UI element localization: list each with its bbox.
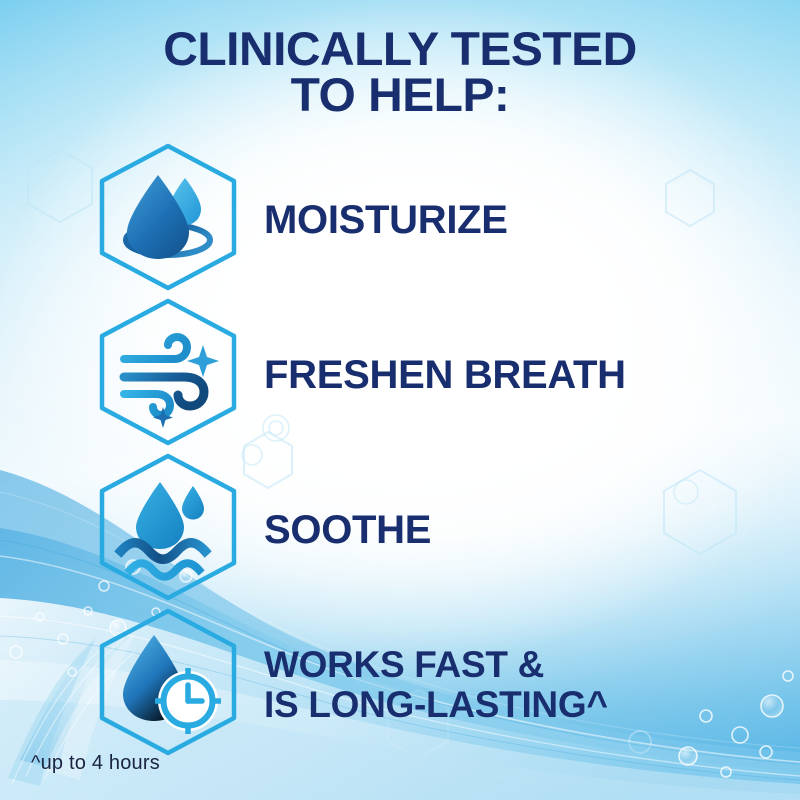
benefit-label-works-fast-line-1: WORKS FAST & [264, 644, 544, 685]
footnote-disclaimer: ^up to 4 hours [31, 752, 160, 775]
benefit-row-works-fast: WORKS FAST & IS LONG-LASTING^ [0, 610, 800, 760]
benefit-label-soothe: SOOTHE [264, 510, 431, 551]
benefit-icon-moisturize [88, 140, 248, 300]
promo-image-canvas: CLINICALLY TESTED TO HELP: [0, 0, 800, 800]
benefit-icon-soothe [88, 450, 248, 610]
benefit-row-moisturize: MOISTURIZE [0, 145, 800, 295]
benefit-label-freshen-breath: FRESHEN BREATH [264, 355, 626, 396]
benefit-row-freshen-breath: FRESHEN BREATH [0, 300, 800, 450]
sparkle-icon [187, 345, 219, 377]
benefit-label-moisturize: MOISTURIZE [264, 200, 508, 241]
benefit-icon-freshen-breath [88, 295, 248, 455]
benefit-row-soothe: SOOTHE [0, 455, 800, 605]
hexagon-outline [102, 301, 234, 443]
headline-line-1: CLINICALLY TESTED [163, 22, 636, 75]
headline: CLINICALLY TESTED TO HELP: [0, 26, 800, 118]
headline-line-2: TO HELP: [0, 72, 800, 118]
benefit-icon-works-fast [88, 605, 248, 765]
benefit-label-works-fast: WORKS FAST & IS LONG-LASTING^ [264, 645, 608, 725]
benefit-label-works-fast-line-2: IS LONG-LASTING^ [264, 684, 608, 725]
